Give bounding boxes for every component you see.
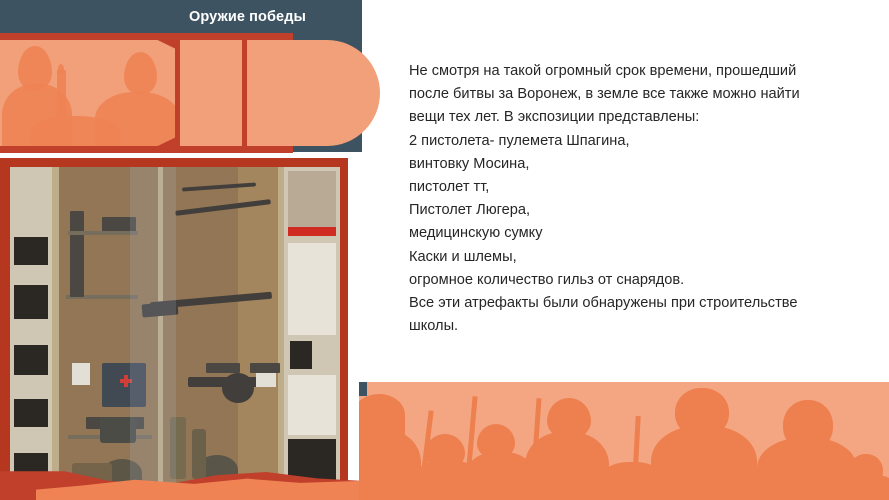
body-line: огромное количество гильз от снарядов. xyxy=(409,269,834,292)
slide-canvas: Оружие победы xyxy=(0,0,889,500)
photo-document xyxy=(14,285,48,319)
museum-display-case-photo xyxy=(0,158,348,500)
soldier-head-silhouette-2 xyxy=(124,52,157,94)
body-line: пистолет тт, xyxy=(409,176,834,199)
photo-document xyxy=(14,237,48,265)
body-line: медицинскую сумку xyxy=(409,222,834,245)
body-text: Не смотря на такой огромный срок времени… xyxy=(409,60,834,338)
body-line: 2 пистолета- пулемета Шпагина, xyxy=(409,130,834,153)
soldier-body-silhouette xyxy=(525,432,609,500)
bullet-band-segment-1 xyxy=(180,40,242,146)
body-line: винтовку Мосина, xyxy=(409,153,834,176)
photo-glass-reflection xyxy=(130,167,176,500)
crowd-silhouette xyxy=(30,116,120,146)
photo-poster xyxy=(288,171,336,227)
body-line: Все эти атрефакты были обнаружены при ст… xyxy=(409,292,834,315)
soldier-silhouette-band xyxy=(359,382,889,500)
tower-top-silhouette xyxy=(58,64,64,74)
photo-image xyxy=(10,167,340,500)
body-line: Каски и шлемы, xyxy=(409,246,834,269)
photo-document xyxy=(14,399,48,427)
photo-left-wall xyxy=(10,167,52,500)
photo-document xyxy=(288,243,336,335)
photo-document xyxy=(288,375,336,435)
bullet-tip xyxy=(247,40,380,146)
body-line: после битвы за Воронеж, в земле все такж… xyxy=(409,83,834,106)
body-line: Пистолет Люгера, xyxy=(409,199,834,222)
bullet-rear-segment xyxy=(0,40,175,146)
soldier-body-silhouette xyxy=(651,426,757,500)
body-line: вещи тех лет. В экспозиции представлены: xyxy=(409,106,834,129)
page-title: Оружие победы xyxy=(140,5,355,29)
soldier-body-silhouette xyxy=(359,430,421,500)
photo-photo-frame xyxy=(290,341,312,369)
photo-document xyxy=(14,345,48,375)
bullet-graphic xyxy=(0,33,380,153)
band-left-edge xyxy=(359,382,367,396)
body-line: Не смотря на такой огромный срок времени… xyxy=(409,60,834,83)
photo-poster-banner xyxy=(288,227,336,236)
soldier-body-silhouette xyxy=(837,474,889,500)
body-line: школы. xyxy=(409,315,834,338)
